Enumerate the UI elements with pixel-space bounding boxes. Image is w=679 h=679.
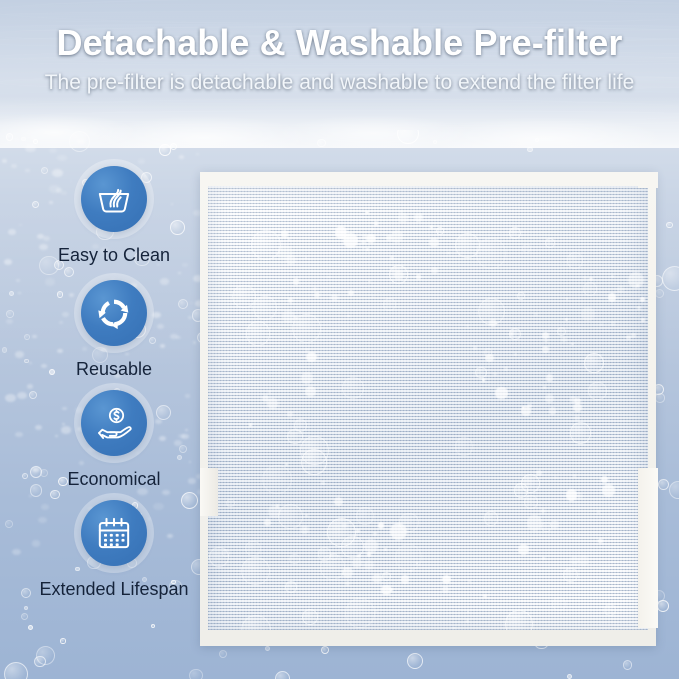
frame-tab-top-right xyxy=(638,172,658,188)
feature-label: Extended Lifespan xyxy=(26,579,202,600)
product-feature-image: Detachable & Washable Pre-filter The pre… xyxy=(0,0,679,679)
feature-label: Easy to Clean xyxy=(26,245,202,266)
hand-holding-coin-icon xyxy=(81,390,147,456)
page-subtitle: The pre-filter is detachable and washabl… xyxy=(0,71,679,95)
hand-wash-icon xyxy=(81,166,147,232)
page-title: Detachable & Washable Pre-filter xyxy=(0,22,679,64)
feature-item-extended-lifespan: Extended Lifespan xyxy=(26,500,202,600)
feature-label: Economical xyxy=(26,469,202,490)
feature-item-reusable: Reusable xyxy=(26,280,202,380)
feature-list: Easy to Clean Reusable xyxy=(26,166,202,610)
recycle-arrows-icon xyxy=(81,280,147,346)
frame-tab-right xyxy=(638,468,658,628)
prefilter-product xyxy=(200,172,656,646)
foam-line xyxy=(0,96,679,148)
calendar-icon xyxy=(81,500,147,566)
feature-item-easy-to-clean: Easy to Clean xyxy=(26,166,202,266)
feature-item-economical: Economical xyxy=(26,390,202,490)
feature-label: Reusable xyxy=(26,359,202,380)
mesh-water-splash xyxy=(208,186,648,630)
frame-tab-left xyxy=(200,468,218,516)
